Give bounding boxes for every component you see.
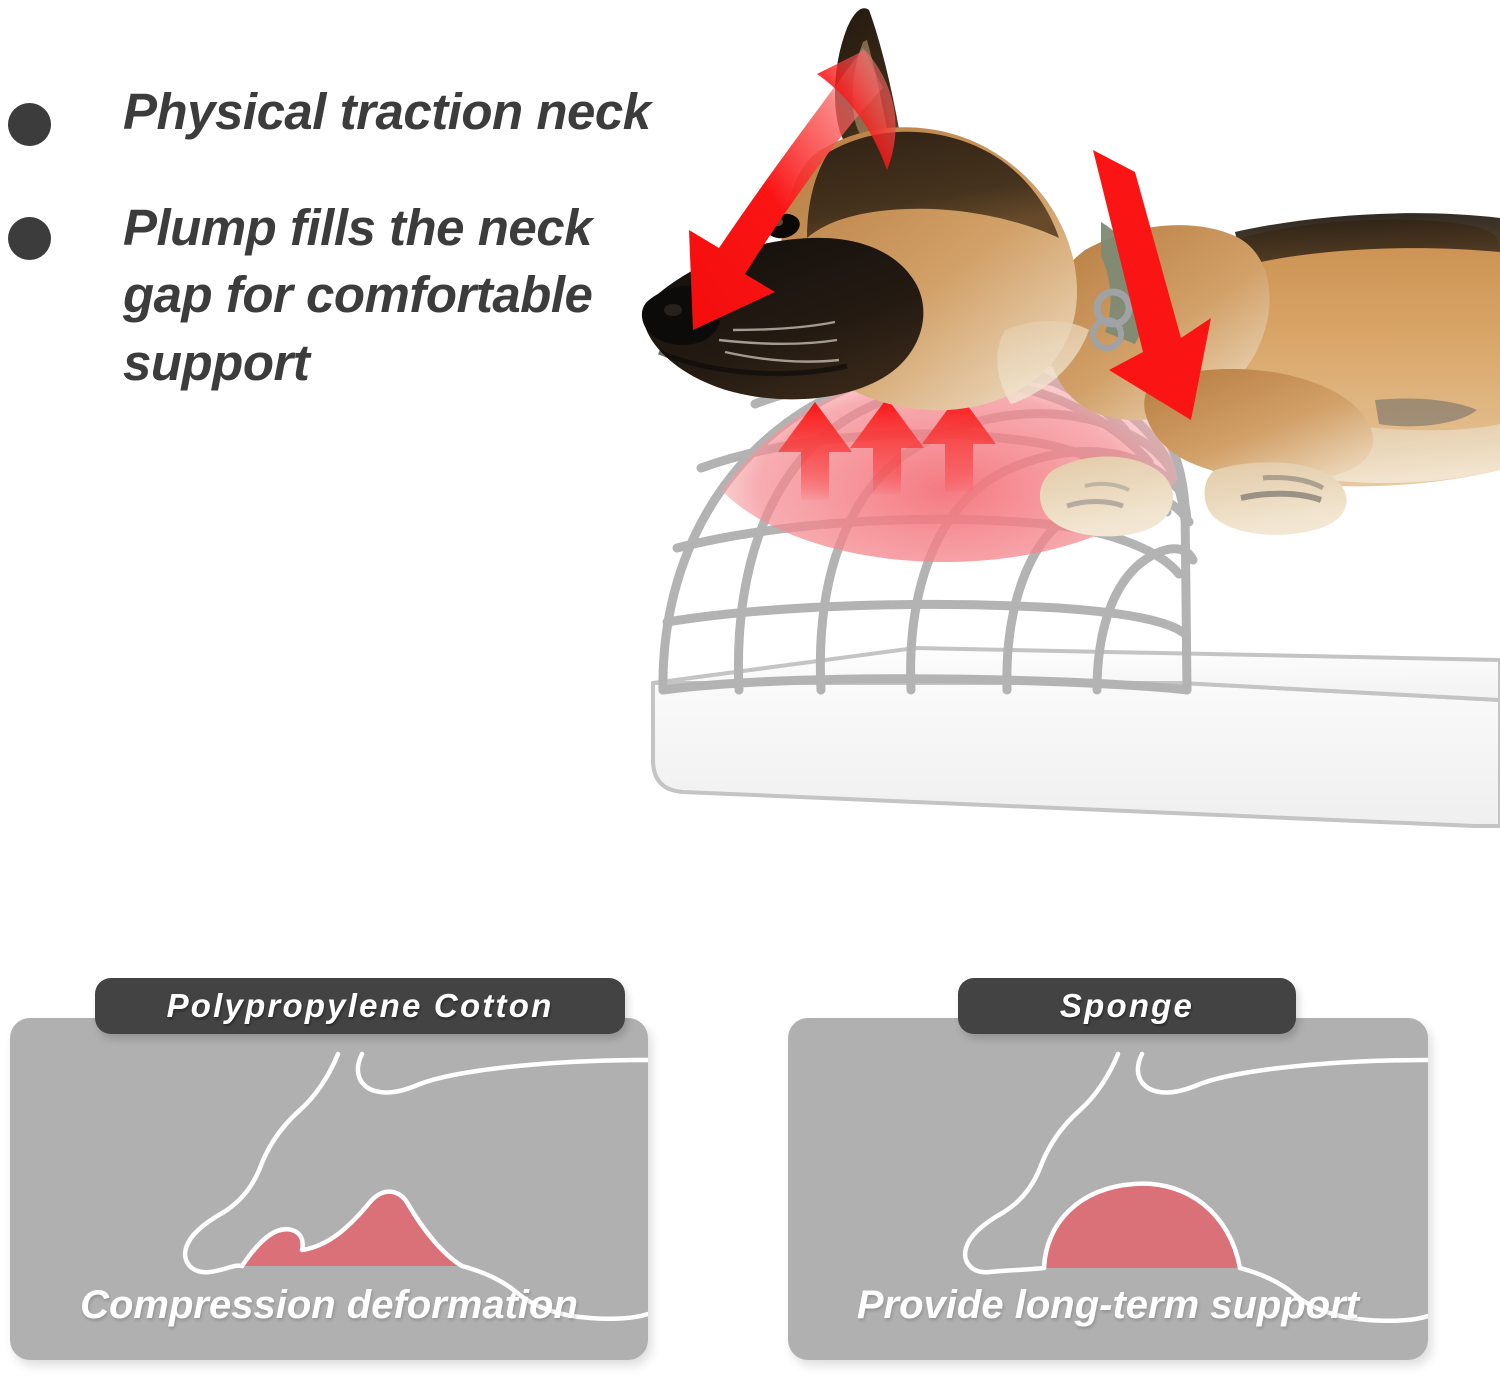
- hero-product-illustration: [615, 0, 1500, 880]
- infographic-canvas: Physical traction neck Plump fills the n…: [0, 0, 1500, 1382]
- comparison-panel-polypropylene: Compression deformation: [10, 1018, 648, 1360]
- material-badge-polypropylene: Polypropylene Cotton: [95, 978, 625, 1034]
- feature-bullet-item: Physical traction neck: [0, 78, 700, 146]
- material-badge-label: Polypropylene Cotton: [167, 987, 554, 1025]
- support-arrow-group: [778, 394, 996, 500]
- feature-bullet-list: Physical traction neck Plump fills the n…: [0, 78, 700, 444]
- feature-bullet-text: Physical traction neck: [123, 78, 651, 145]
- panel-caption: Provide long-term support: [788, 1283, 1428, 1328]
- bullet-dot-icon: [8, 103, 51, 146]
- feature-bullet-item: Plump fills the neck gap for comfortable…: [0, 194, 700, 396]
- feature-bullet-text: Plump fills the neck gap for comfortable…: [123, 194, 623, 396]
- material-badge-sponge: Sponge: [958, 978, 1296, 1034]
- comparison-panel-sponge: Provide long-term support: [788, 1018, 1428, 1360]
- bed-base: [653, 648, 1500, 826]
- material-badge-label: Sponge: [1060, 987, 1194, 1025]
- bullet-dot-icon: [8, 217, 51, 260]
- panel-caption: Compression deformation: [10, 1283, 648, 1328]
